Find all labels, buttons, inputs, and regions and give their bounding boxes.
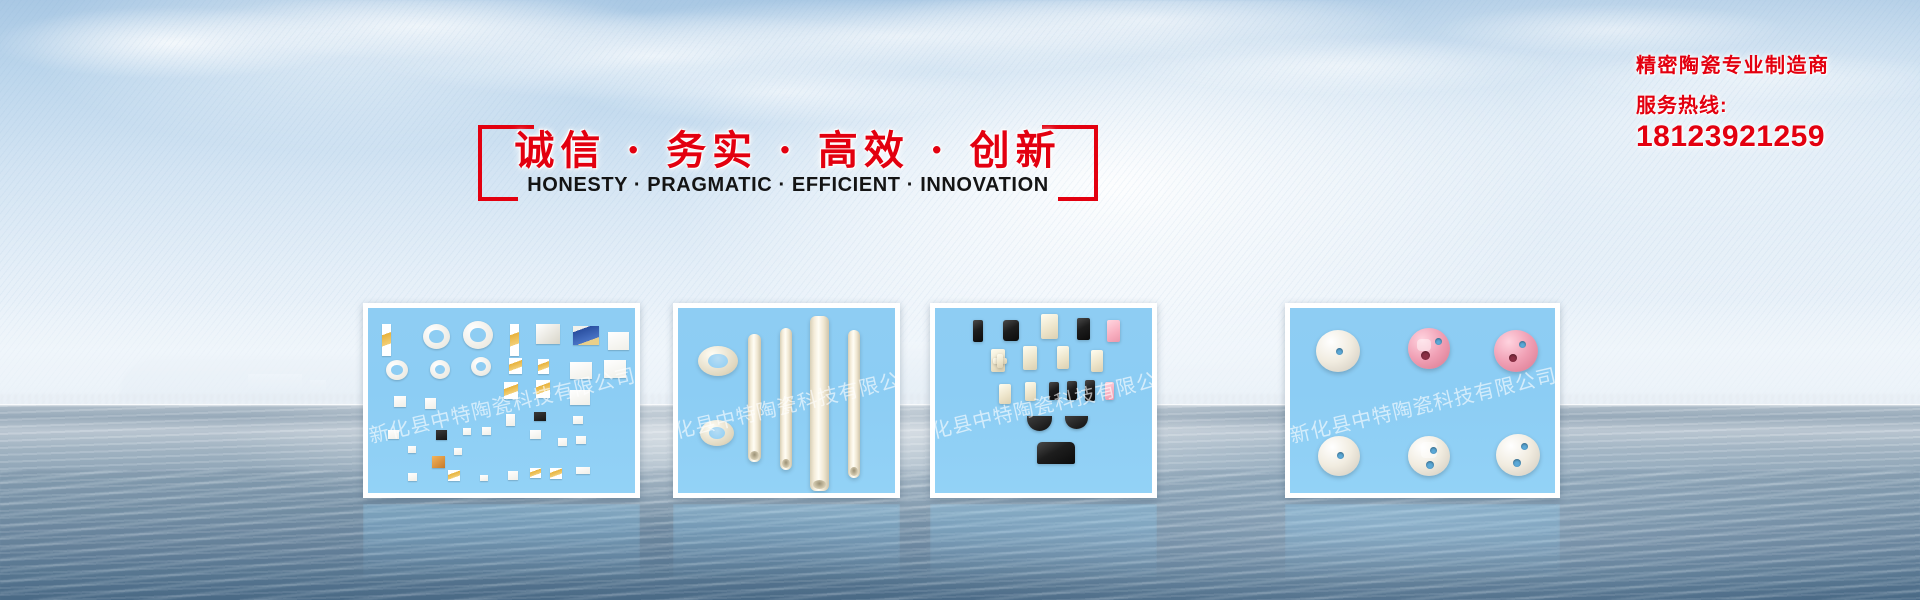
component-tube xyxy=(848,330,860,478)
component-chip xyxy=(530,430,541,439)
component-block xyxy=(1057,346,1069,369)
component-block xyxy=(1091,350,1103,372)
component-substrate xyxy=(570,362,592,379)
component-chip xyxy=(463,428,471,435)
disc-hole xyxy=(1509,354,1517,362)
component-chip xyxy=(432,456,445,468)
product-panel-ceramic-blocks[interactable]: 新化县中特陶瓷科技有限公司 xyxy=(930,303,1157,498)
component-collar xyxy=(700,420,734,446)
component-block xyxy=(1003,320,1019,341)
component-chip xyxy=(536,380,550,398)
component-ring xyxy=(471,357,491,376)
reflection-surface xyxy=(363,504,640,582)
component-substrate xyxy=(536,324,560,344)
component-block xyxy=(1041,314,1058,339)
component-chip xyxy=(550,468,562,479)
component-ring xyxy=(430,360,450,379)
component-collar xyxy=(698,346,738,376)
panel-reflection xyxy=(1285,504,1560,582)
component-block xyxy=(1025,382,1036,401)
disc-hole xyxy=(1430,447,1437,454)
disc-hole xyxy=(1337,452,1344,459)
component-disc xyxy=(1494,330,1538,372)
panel-watermark: 新化县中特陶瓷科技有限公司 xyxy=(368,359,635,449)
component-chip xyxy=(382,324,391,356)
component-chip xyxy=(408,446,416,453)
component-chip xyxy=(506,414,515,426)
component-chip xyxy=(408,473,417,481)
component-cross xyxy=(997,354,1003,368)
panel-reflection xyxy=(930,504,1157,582)
panel-photo-chip-components: 新化县中特陶瓷科技有限公司 xyxy=(368,308,635,493)
component-tube xyxy=(748,334,761,462)
panel-reflection xyxy=(363,504,640,582)
component-block xyxy=(1067,381,1077,400)
component-chip xyxy=(510,324,519,356)
component-chip xyxy=(504,382,518,399)
component-chip xyxy=(448,470,460,481)
reflection-surface xyxy=(930,504,1157,582)
component-arc xyxy=(1065,416,1088,429)
component-ring xyxy=(463,321,493,349)
component-disc xyxy=(1316,330,1360,372)
component-block xyxy=(973,320,983,342)
component-chip xyxy=(436,430,447,440)
component-block xyxy=(1049,382,1059,400)
component-chip xyxy=(388,430,399,439)
component-block xyxy=(1023,346,1037,370)
panel-watermark: 新化县中特陶瓷科技有限公司 xyxy=(935,359,1152,449)
component-block xyxy=(1077,318,1090,340)
component-chip xyxy=(573,416,583,424)
component-disc xyxy=(1408,436,1450,476)
component-chip xyxy=(534,412,546,421)
component-tube xyxy=(810,316,829,491)
component-substrate xyxy=(570,390,590,405)
component-substrate xyxy=(608,332,629,350)
component-block xyxy=(999,384,1011,404)
disc-hole xyxy=(1426,461,1434,469)
panel-photo-ceramic-tubes: 新化县中特陶瓷科技有限公司 xyxy=(678,308,895,493)
product-panel-chip-components[interactable]: 新化县中特陶瓷科技有限公司 xyxy=(363,303,640,498)
product-panel-ceramic-tubes[interactable]: 新化县中特陶瓷科技有限公司 xyxy=(673,303,900,498)
disc-hole xyxy=(1336,348,1343,355)
component-plate xyxy=(1037,442,1075,464)
component-chip xyxy=(530,468,541,478)
component-disc xyxy=(1318,436,1360,476)
product-panel-row: 新化县中特陶瓷科技有限公司 新化县中特陶瓷科技有限公司 xyxy=(0,0,1920,600)
reflection-surface xyxy=(673,504,900,582)
disc-hole xyxy=(1421,351,1430,360)
component-ring xyxy=(386,360,408,380)
component-chip xyxy=(394,396,406,407)
disc-hole xyxy=(1435,338,1442,345)
component-chip xyxy=(480,475,488,481)
component-disc xyxy=(1496,434,1540,476)
component-chip xyxy=(508,471,518,480)
panel-photo-ceramic-discs: 新化县中特陶瓷科技有限公司 xyxy=(1290,308,1555,493)
component-tube xyxy=(780,328,792,470)
disc-hole xyxy=(1513,459,1521,467)
component-chip xyxy=(482,427,491,435)
panel-reflection xyxy=(673,504,900,582)
component-chip xyxy=(558,438,567,446)
hero-banner: 诚信 · 务实 · 高效 · 创新 HONESTY · PRAGMATIC · … xyxy=(0,0,1920,600)
component-ring xyxy=(423,324,450,349)
disc-boss xyxy=(1417,339,1431,351)
component-chip xyxy=(454,448,462,455)
component-arc xyxy=(1027,416,1052,431)
component-disc xyxy=(1408,328,1450,369)
component-block xyxy=(1085,380,1095,401)
disc-hole xyxy=(1521,443,1528,450)
component-chip xyxy=(573,326,599,345)
component-chip xyxy=(509,358,522,374)
product-panel-ceramic-discs[interactable]: 新化县中特陶瓷科技有限公司 xyxy=(1285,303,1560,498)
component-block xyxy=(1105,382,1114,400)
component-substrate xyxy=(604,360,626,378)
reflection-surface xyxy=(1285,504,1560,582)
component-chip xyxy=(538,359,549,374)
component-block xyxy=(1107,320,1120,342)
panel-photo-ceramic-blocks: 新化县中特陶瓷科技有限公司 xyxy=(935,308,1152,493)
component-chip xyxy=(576,467,590,474)
component-chip xyxy=(576,436,586,444)
component-chip xyxy=(425,398,436,409)
disc-hole xyxy=(1519,341,1526,348)
